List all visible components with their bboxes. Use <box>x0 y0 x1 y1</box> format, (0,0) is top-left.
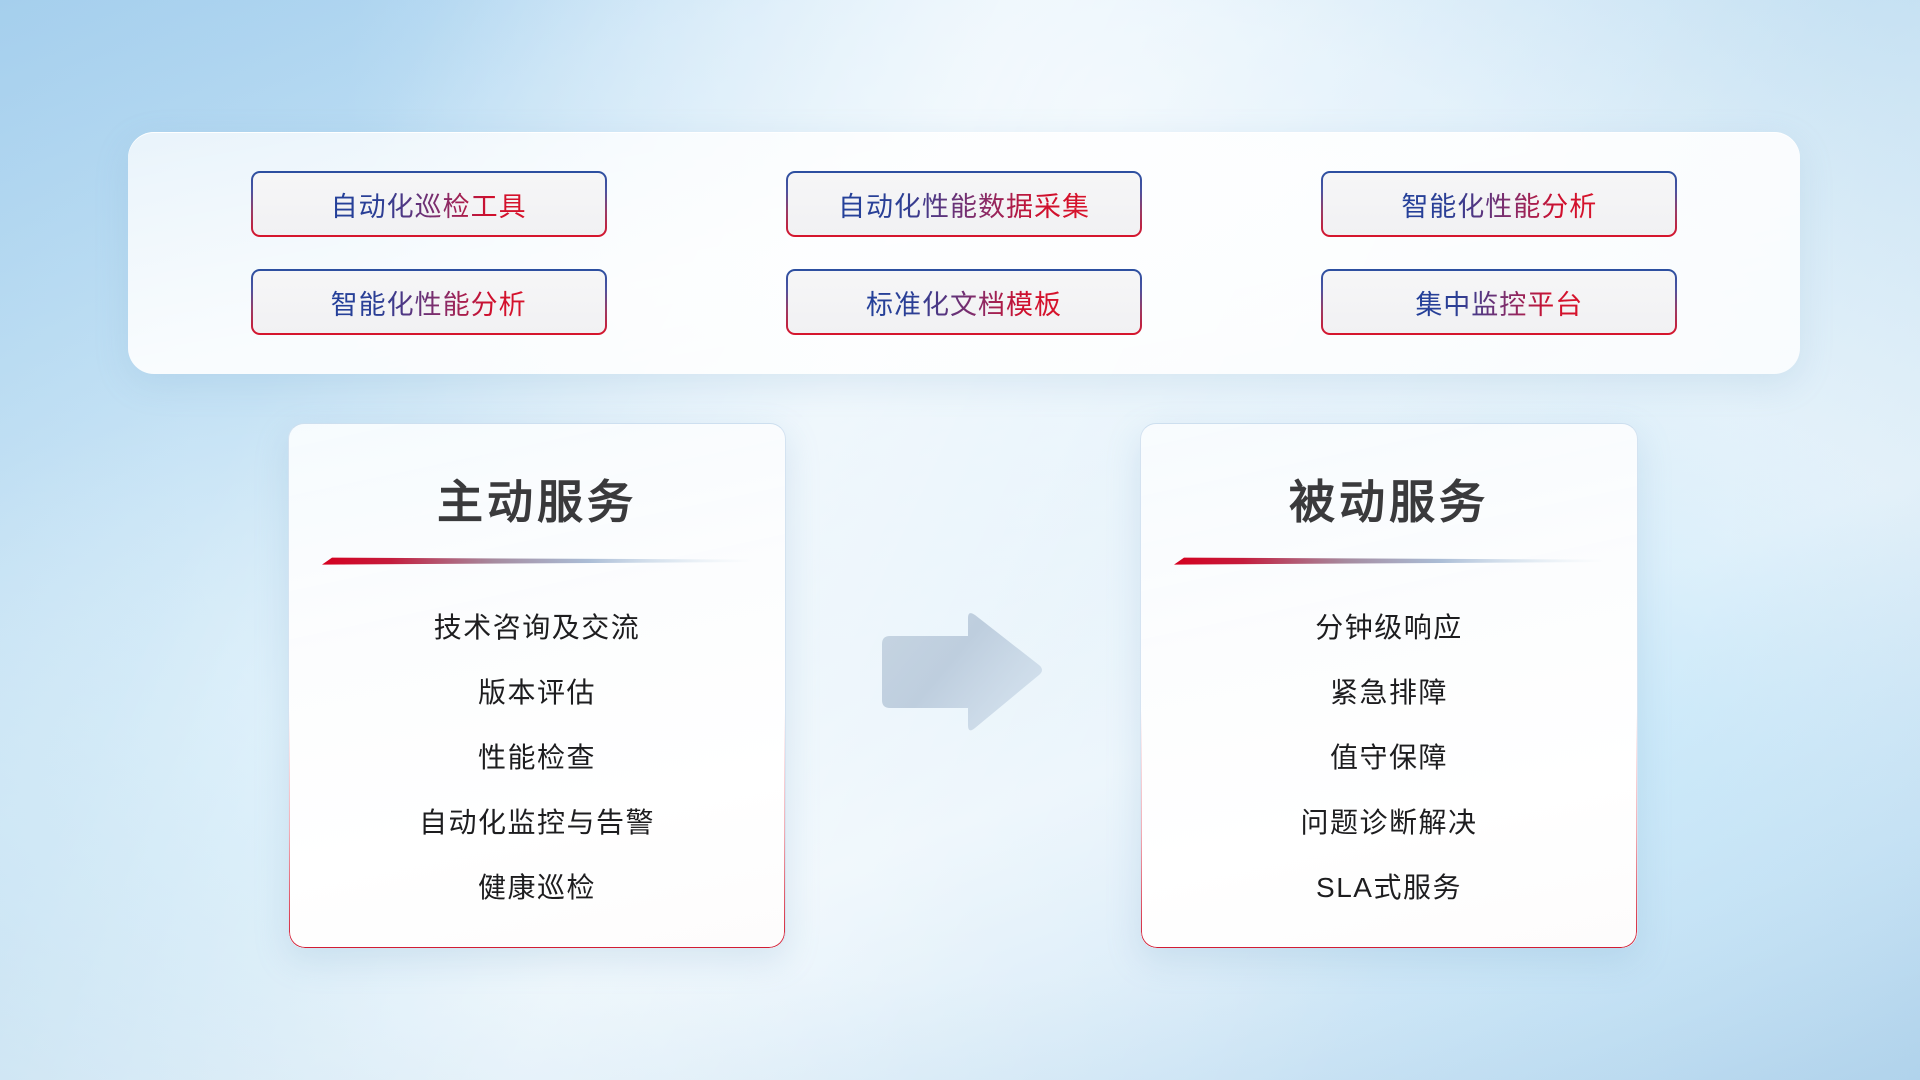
capability-pill-6[interactable]: 集中监控平台 <box>1321 269 1677 335</box>
proactive-service-list: 技术咨询及交流 版本评估 性能检查 自动化监控与告警 健康巡检 <box>289 606 785 906</box>
capability-pill-4[interactable]: 智能化性能分析 <box>251 269 607 335</box>
list-item: SLA式服务 <box>1316 866 1462 906</box>
capability-pill-1-label: 自动化巡检工具 <box>331 185 527 224</box>
proactive-service-card: 主动服务 技术咨询及交流 版本评估 性能检查 <box>288 423 786 948</box>
list-item: 版本评估 <box>478 671 596 711</box>
divider-taper-icon <box>322 556 752 566</box>
proactive-service-divider <box>322 556 752 566</box>
list-item: 自动化监控与告警 <box>419 801 655 841</box>
slide-canvas: 自动化巡检工具 自动化性能数据采集 智能化性能分析 智能化性能分析 标准化文档模… <box>0 0 1920 1080</box>
capability-pill-1-inner: 自动化巡检工具 <box>253 173 605 235</box>
capability-pill-2-label: 自动化性能数据采集 <box>838 185 1090 224</box>
list-item: 技术咨询及交流 <box>434 606 641 646</box>
capability-pill-4-inner: 智能化性能分析 <box>253 271 605 333</box>
reactive-service-card: 被动服务 分钟级响应 紧急排障 值守保障 <box>1140 423 1638 948</box>
reactive-service-list: 分钟级响应 紧急排障 值守保障 问题诊断解决 SLA式服务 <box>1141 606 1637 906</box>
capability-pill-5-inner: 标准化文档模板 <box>788 271 1140 333</box>
reactive-service-divider <box>1174 556 1604 566</box>
list-item: 性能检查 <box>478 736 596 776</box>
capability-pill-2-inner: 自动化性能数据采集 <box>788 173 1140 235</box>
capability-pill-5-label: 标准化文档模板 <box>866 283 1062 322</box>
list-item: 值守保障 <box>1330 736 1448 776</box>
list-item: 健康巡检 <box>478 866 596 906</box>
capability-pill-3-inner: 智能化性能分析 <box>1323 173 1675 235</box>
arrow-right-shape-icon <box>876 608 1046 736</box>
capability-pill-3-label: 智能化性能分析 <box>1401 185 1597 224</box>
capability-pill-6-label: 集中监控平台 <box>1415 283 1583 322</box>
flow-arrow-right-icon <box>876 608 1046 736</box>
list-item: 紧急排障 <box>1330 671 1448 711</box>
capabilities-panel: 自动化巡检工具 自动化性能数据采集 智能化性能分析 智能化性能分析 标准化文档模… <box>128 132 1800 374</box>
reactive-service-title: 被动服务 <box>1141 466 1637 532</box>
list-item: 分钟级响应 <box>1315 606 1463 646</box>
capability-pill-5[interactable]: 标准化文档模板 <box>786 269 1142 335</box>
proactive-service-title: 主动服务 <box>289 466 785 532</box>
divider-taper-icon <box>1174 556 1604 566</box>
capability-pill-2[interactable]: 自动化性能数据采集 <box>786 171 1142 237</box>
capability-pill-4-label: 智能化性能分析 <box>331 283 527 322</box>
capability-pill-1[interactable]: 自动化巡检工具 <box>251 171 607 237</box>
capability-pill-6-inner: 集中监控平台 <box>1323 271 1675 333</box>
capability-pill-3[interactable]: 智能化性能分析 <box>1321 171 1677 237</box>
list-item: 问题诊断解决 <box>1300 801 1477 841</box>
